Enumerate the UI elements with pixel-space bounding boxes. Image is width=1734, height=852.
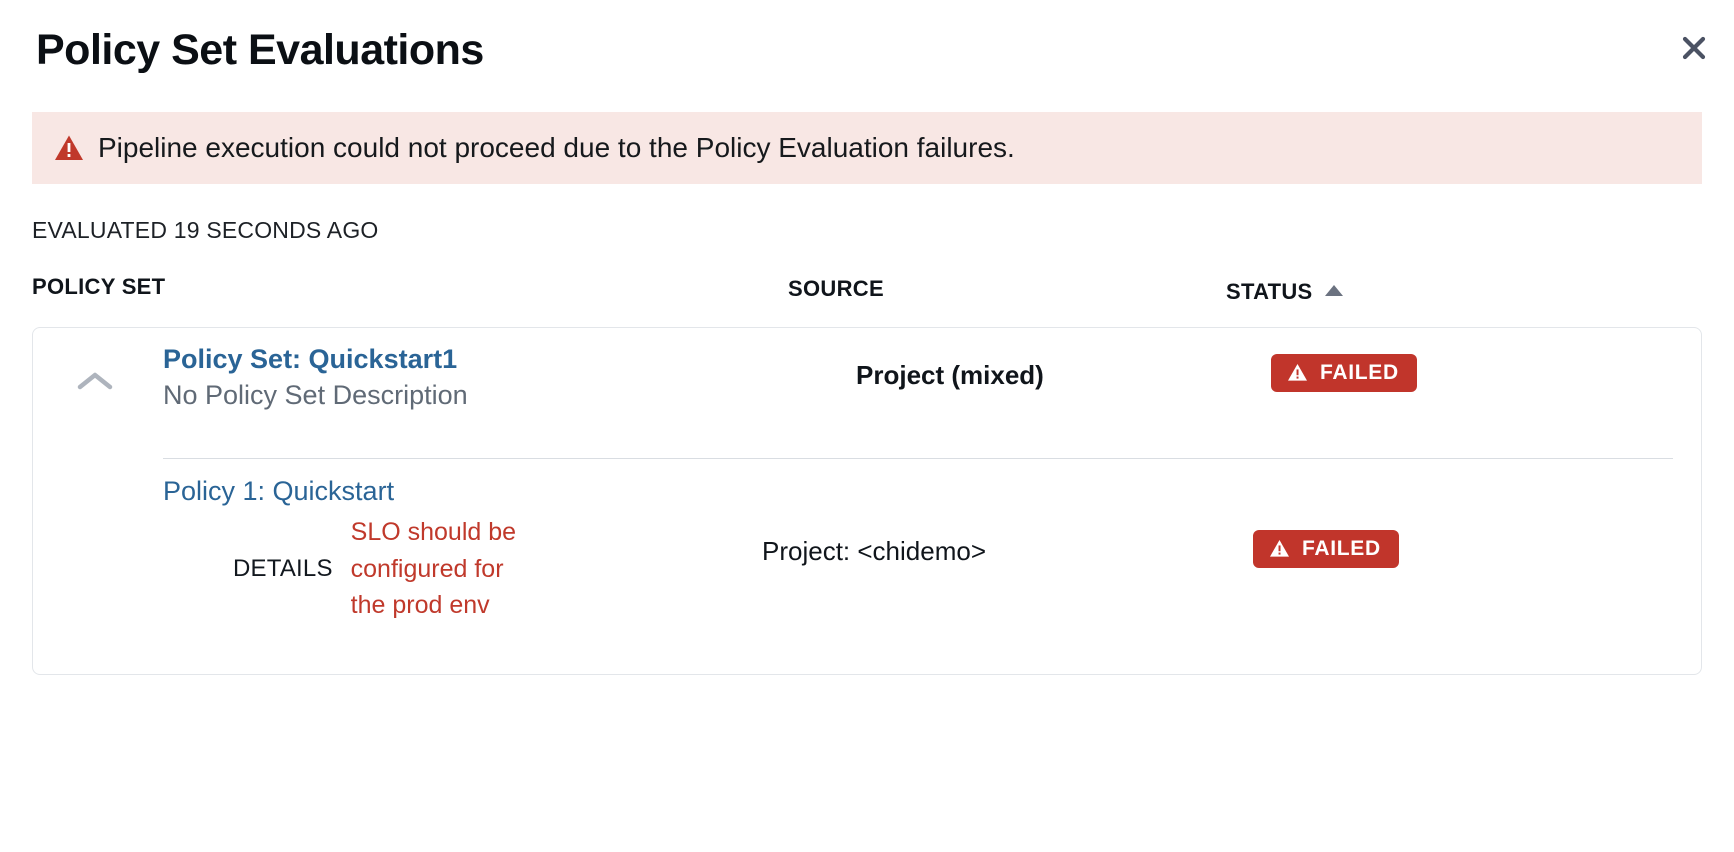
warning-triangle-icon: [1269, 539, 1290, 558]
row-divider: [163, 458, 1673, 459]
sort-ascending-arrow-icon: [1325, 285, 1343, 296]
policy-source: Project: <chidemo>: [762, 536, 986, 567]
error-alert-banner: Pipeline execution could not proceed due…: [32, 112, 1702, 184]
policy-status-badge-wrapper: FAILED: [1253, 530, 1399, 568]
modal-header: Policy Set Evaluations: [0, 0, 1734, 75]
policy-set-evaluations-modal: Policy Set Evaluations Pipeline executio…: [0, 0, 1734, 852]
warning-triangle-icon: [54, 134, 84, 162]
table-column-headers: POLICY SET SOURCE STATUS: [0, 274, 1734, 316]
policy-set-row: Policy Set: Quickstart1 No Policy Set De…: [33, 328, 1701, 446]
column-header-status-label: STATUS: [1226, 279, 1313, 305]
close-icon[interactable]: [1672, 26, 1716, 70]
page-title: Policy Set Evaluations: [36, 26, 1698, 75]
policy-set-status-badge-wrapper: FAILED: [1271, 354, 1417, 392]
evaluated-timestamp: EVALUATED 19 SECONDS AGO: [32, 217, 1734, 244]
chevron-up-icon[interactable]: [73, 364, 117, 398]
alert-message: Pipeline execution could not proceed due…: [98, 134, 1015, 162]
policy-details: DETAILS SLO should be configured for the…: [233, 514, 523, 623]
status-badge: FAILED: [1253, 530, 1399, 568]
status-badge: FAILED: [1271, 354, 1417, 392]
policy-row: Policy 1: Quickstart DETAILS SLO should …: [33, 476, 1701, 656]
status-badge-label: FAILED: [1302, 538, 1381, 559]
policy-details-value: SLO should be configured for the prod en…: [351, 514, 523, 623]
warning-triangle-icon: [1287, 363, 1308, 382]
column-header-status[interactable]: STATUS: [1226, 279, 1343, 305]
policy-link[interactable]: Policy 1: Quickstart: [163, 476, 394, 507]
policy-set-description: No Policy Set Description: [163, 378, 468, 413]
policy-details-label: DETAILS: [233, 555, 333, 583]
status-badge-label: FAILED: [1320, 362, 1399, 383]
policy-set-card: Policy Set: Quickstart1 No Policy Set De…: [32, 327, 1702, 675]
column-header-source[interactable]: SOURCE: [788, 276, 884, 302]
column-header-policy-set[interactable]: POLICY SET: [32, 274, 165, 300]
policy-set-link[interactable]: Policy Set: Quickstart1: [163, 342, 457, 377]
policy-set-source: Project (mixed): [856, 360, 1044, 391]
policy-set-name-block: Policy Set: Quickstart1 No Policy Set De…: [163, 342, 468, 412]
